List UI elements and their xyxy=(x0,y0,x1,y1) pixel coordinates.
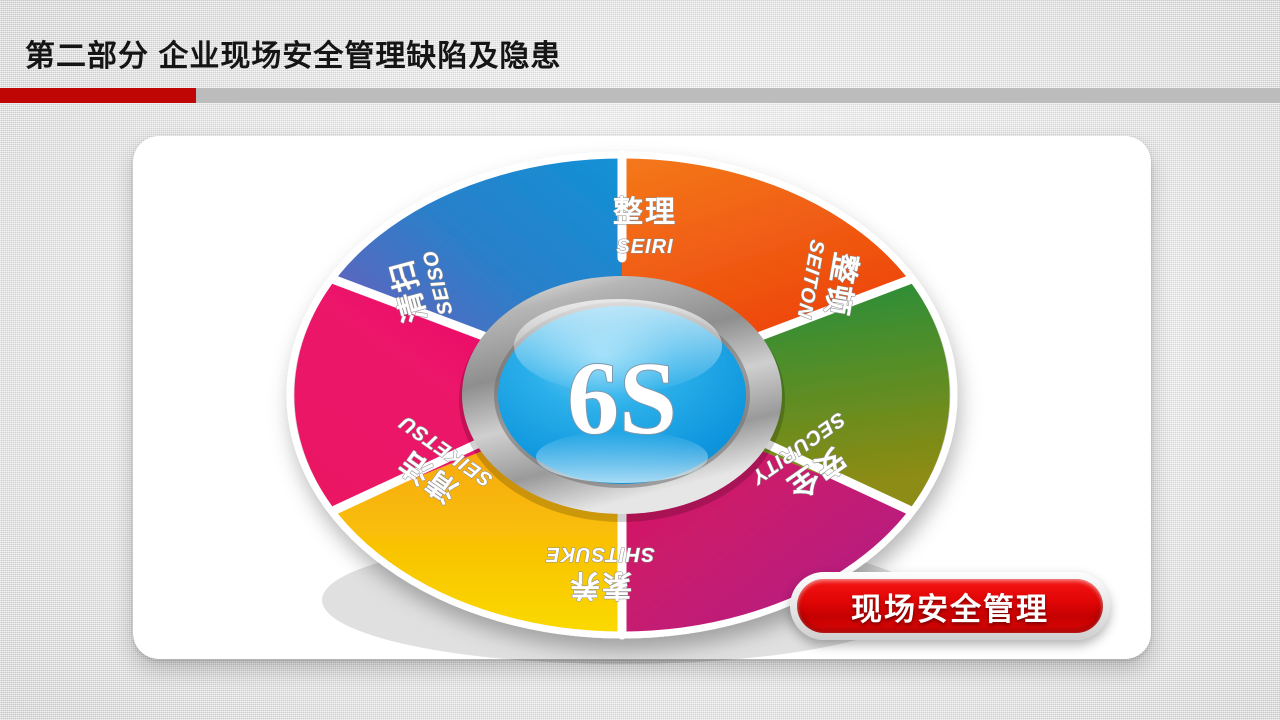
header-divider-bar xyxy=(0,88,1280,103)
hub-label: 6S xyxy=(567,341,677,456)
divider-red-segment xyxy=(0,88,196,103)
wheel-hub: 6S xyxy=(459,276,785,522)
divider-grey-segment xyxy=(196,88,1280,103)
callout-button-label: 现场安全管理 xyxy=(851,584,1049,629)
seiri-cn: 整理 xyxy=(613,196,677,229)
shitsuke-cn: 素养 xyxy=(568,568,632,602)
segment-label-seiri: 整理 SEIRI xyxy=(613,196,677,258)
page-title: 第二部分 企业现场安全管理缺陷及隐患 xyxy=(25,31,561,75)
callout-button[interactable]: 现场安全管理 xyxy=(790,572,1110,640)
slide-header: 第二部分 企业现场安全管理缺陷及隐患 xyxy=(0,0,1280,96)
seiri-en: SEIRI xyxy=(616,236,673,258)
callout-button-inner[interactable]: 现场安全管理 xyxy=(797,579,1103,633)
shitsuke-en: SHITSUKE xyxy=(545,543,654,565)
